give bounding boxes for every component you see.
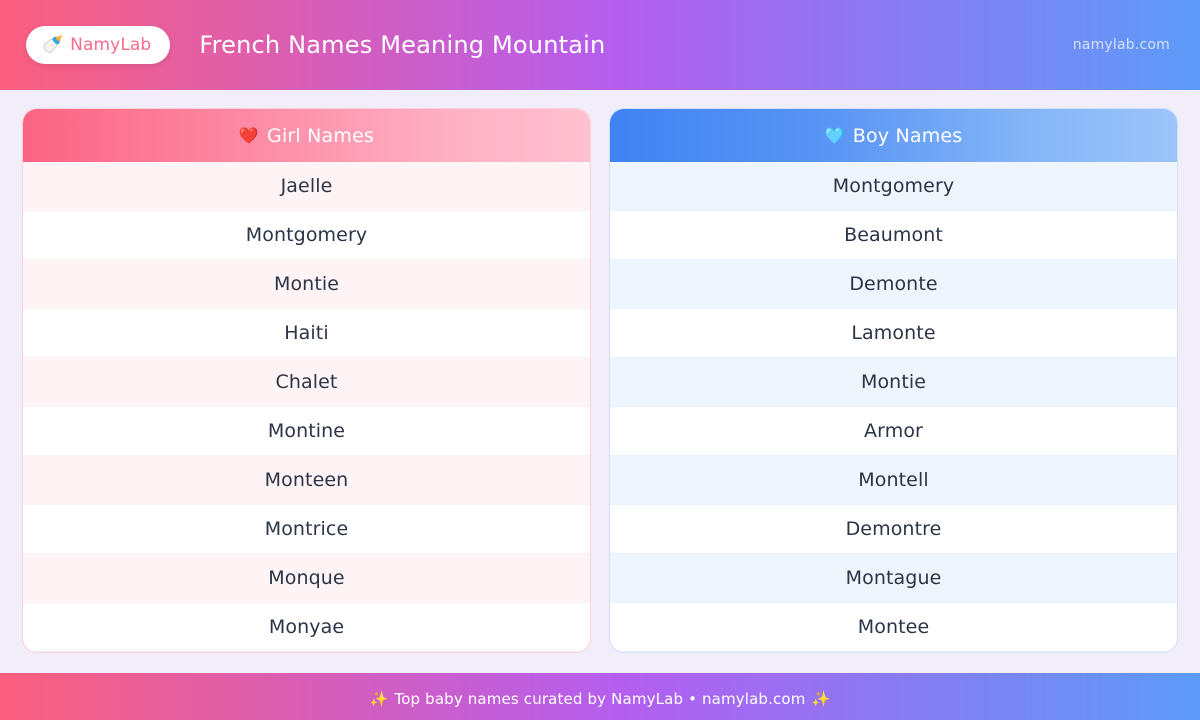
list-item[interactable]: Montague xyxy=(610,554,1177,603)
boy-names-card: 🩵 Boy Names Montgomery Beaumont Demonte … xyxy=(609,108,1178,653)
list-item[interactable]: Montine xyxy=(23,407,590,456)
list-item[interactable]: Montell xyxy=(610,456,1177,505)
boy-names-list: Montgomery Beaumont Demonte Lamonte Mont… xyxy=(610,162,1177,652)
list-item[interactable]: Montgomery xyxy=(610,162,1177,211)
list-item[interactable]: Montrice xyxy=(23,505,590,554)
page-title: French Names Meaning Mountain xyxy=(199,31,605,59)
list-item[interactable]: Monyae xyxy=(23,603,590,652)
girl-names-card: ❤️ Girl Names Jaelle Montgomery Montie H… xyxy=(22,108,591,653)
list-item[interactable]: Montie xyxy=(23,260,590,309)
list-item[interactable]: Haiti xyxy=(23,309,590,358)
site-url-label: namylab.com xyxy=(1073,37,1170,53)
boy-card-header: 🩵 Boy Names xyxy=(610,109,1177,162)
list-item[interactable]: Montgomery xyxy=(23,211,590,260)
list-item[interactable]: Demontre xyxy=(610,505,1177,554)
brand-badge[interactable]: 🍼 NamyLab xyxy=(26,26,170,64)
heart-icon: ❤️ xyxy=(239,128,259,144)
list-item[interactable]: Lamonte xyxy=(610,309,1177,358)
girl-names-list: Jaelle Montgomery Montie Haiti Chalet Mo… xyxy=(23,162,590,652)
baby-bottle-icon: 🍼 xyxy=(42,37,63,54)
heart-icon: 🩵 xyxy=(825,128,845,144)
girl-card-header: ❤️ Girl Names xyxy=(23,109,590,162)
list-item[interactable]: Armor xyxy=(610,407,1177,456)
infographic-page: 🍼 NamyLab French Names Meaning Mountain … xyxy=(0,0,1200,720)
list-item[interactable]: Chalet xyxy=(23,358,590,407)
page-header: 🍼 NamyLab French Names Meaning Mountain … xyxy=(0,0,1200,90)
list-item[interactable]: Monque xyxy=(23,554,590,603)
list-item[interactable]: Beaumont xyxy=(610,211,1177,260)
sparkles-icon: ✨ xyxy=(370,690,389,708)
page-footer: ✨ Top baby names curated by NamyLab • na… xyxy=(0,673,1200,720)
brand-name-label: NamyLab xyxy=(70,35,151,55)
footer-text: Top baby names curated by NamyLab • namy… xyxy=(394,690,805,708)
list-item[interactable]: Monteen xyxy=(23,456,590,505)
girl-card-title: Girl Names xyxy=(267,125,374,147)
list-item[interactable]: Jaelle xyxy=(23,162,590,211)
boy-card-title: Boy Names xyxy=(853,125,963,147)
list-item[interactable]: Montee xyxy=(610,603,1177,652)
cards-container: ❤️ Girl Names Jaelle Montgomery Montie H… xyxy=(0,90,1200,673)
list-item[interactable]: Montie xyxy=(610,358,1177,407)
list-item[interactable]: Demonte xyxy=(610,260,1177,309)
sparkles-icon: ✨ xyxy=(812,690,831,708)
